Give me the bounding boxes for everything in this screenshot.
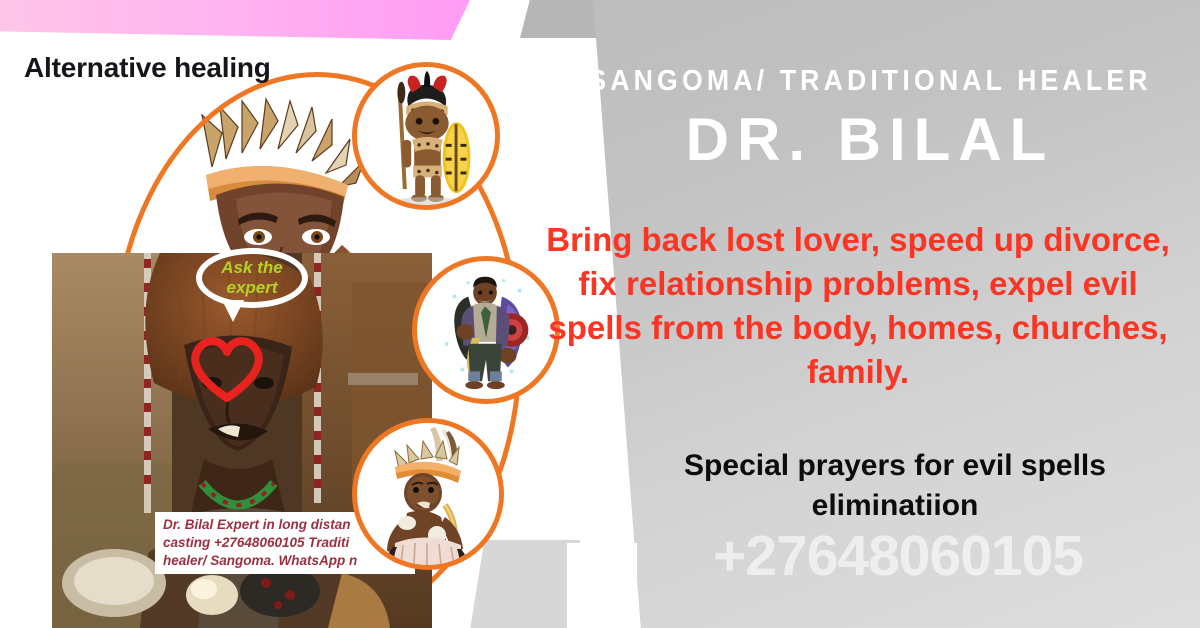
zulu-warrior-illustration <box>357 66 495 206</box>
services-text: Bring back lost lover, speed up divorce,… <box>528 218 1188 394</box>
sangoma-dancer-illustration <box>357 423 499 565</box>
top-pink-strip <box>0 0 470 40</box>
speech-bubble: Ask the expert <box>196 248 308 308</box>
healer-name: DR. BILAL <box>560 105 1180 174</box>
kicker-heading: SANGOMA/ TRADITIONAL HEALER <box>585 65 1155 98</box>
subheading-text: Special prayers for evil spells eliminat… <box>600 446 1190 526</box>
panel-phone-watermark: +27648060105 <box>600 523 1196 589</box>
page-title: Alternative healing <box>24 52 271 84</box>
circle-zulu-warrior <box>352 62 500 210</box>
circle-sangoma-dancer <box>352 418 504 570</box>
heart-icon <box>186 330 268 404</box>
caption-line-3: healer/ Sangoma. WhatsApp n <box>163 552 409 570</box>
speech-bubble-text: Ask the expert <box>206 258 298 297</box>
poster-canvas: Alternative healing <box>0 0 1200 628</box>
bottom-gray-wedge <box>470 540 580 628</box>
